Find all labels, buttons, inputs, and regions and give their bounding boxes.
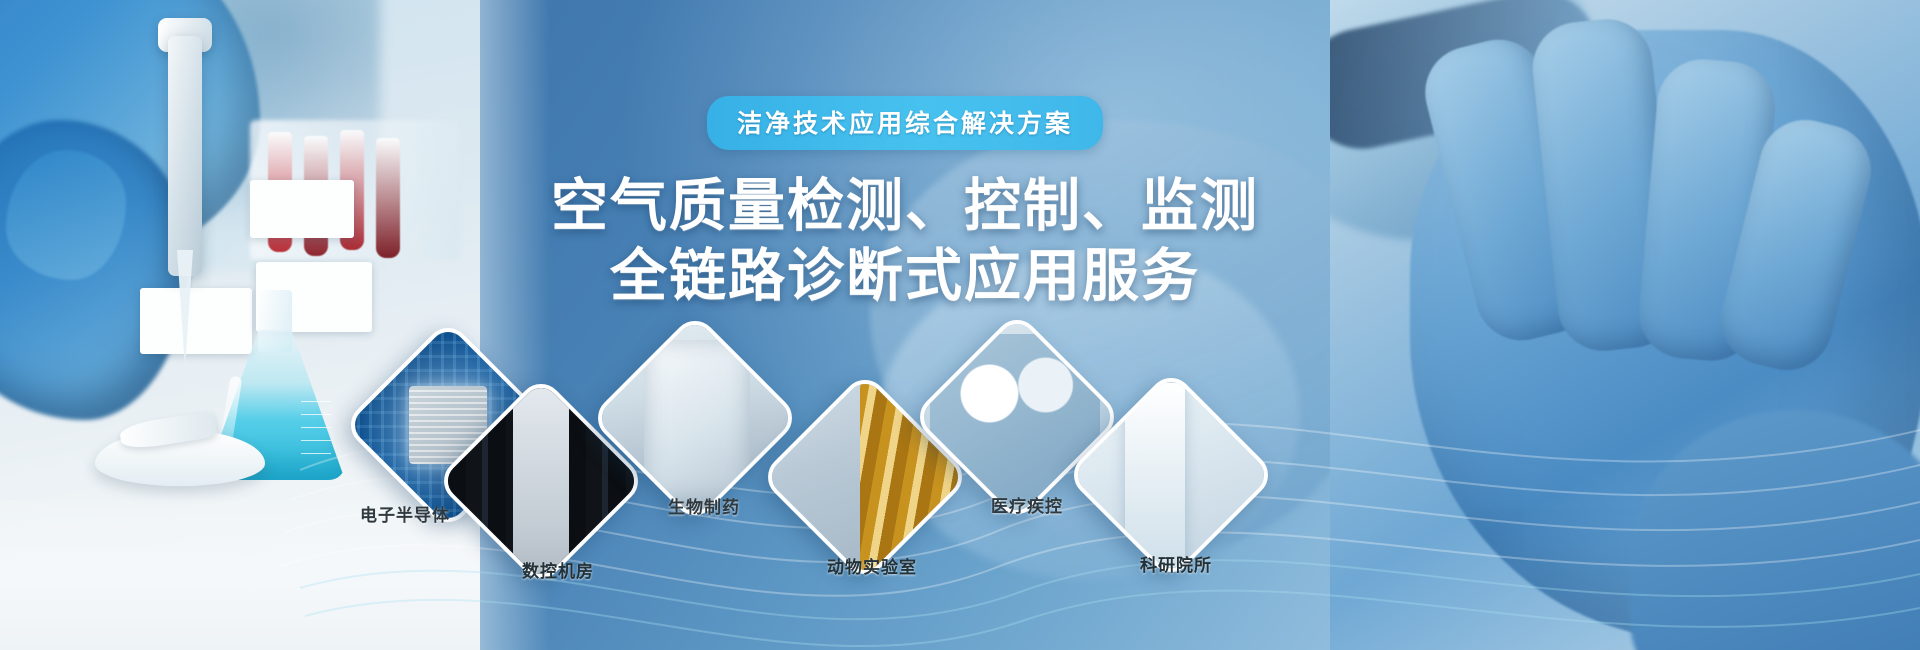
hero-banner: 洁净技术应用综合解决方案 空气质量检测、控制、监测 全链路诊断式应用服务 电子半…: [0, 0, 1920, 650]
pipette-body: [168, 36, 202, 276]
industry-card-label: 电子半导体: [360, 501, 450, 526]
industry-card-label: 医疗疾控: [991, 492, 1063, 517]
test-tube: [376, 138, 400, 258]
industry-card-label: 动物实验室: [827, 553, 917, 578]
blood-sample-tube: [1155, 414, 1185, 486]
industry-card-row: 电子半导体 数控机房 生物制药 动物实验室 医疗疾控 科研院所: [0, 320, 1920, 650]
industry-card-label: 科研院所: [1140, 551, 1212, 576]
industry-card-label: 生物制药: [668, 493, 740, 518]
headline-line-1: 空气质量检测、控制、监测: [551, 172, 1259, 242]
headline-line-2: 全链路诊断式应用服务: [551, 242, 1259, 312]
page-title: 空气质量检测、控制、监测 全链路诊断式应用服务: [551, 172, 1259, 311]
industry-card-label: 数控机房: [522, 557, 594, 582]
tagline-badge: 洁净技术应用综合解决方案: [707, 96, 1103, 150]
sample-label-card: [250, 180, 354, 238]
